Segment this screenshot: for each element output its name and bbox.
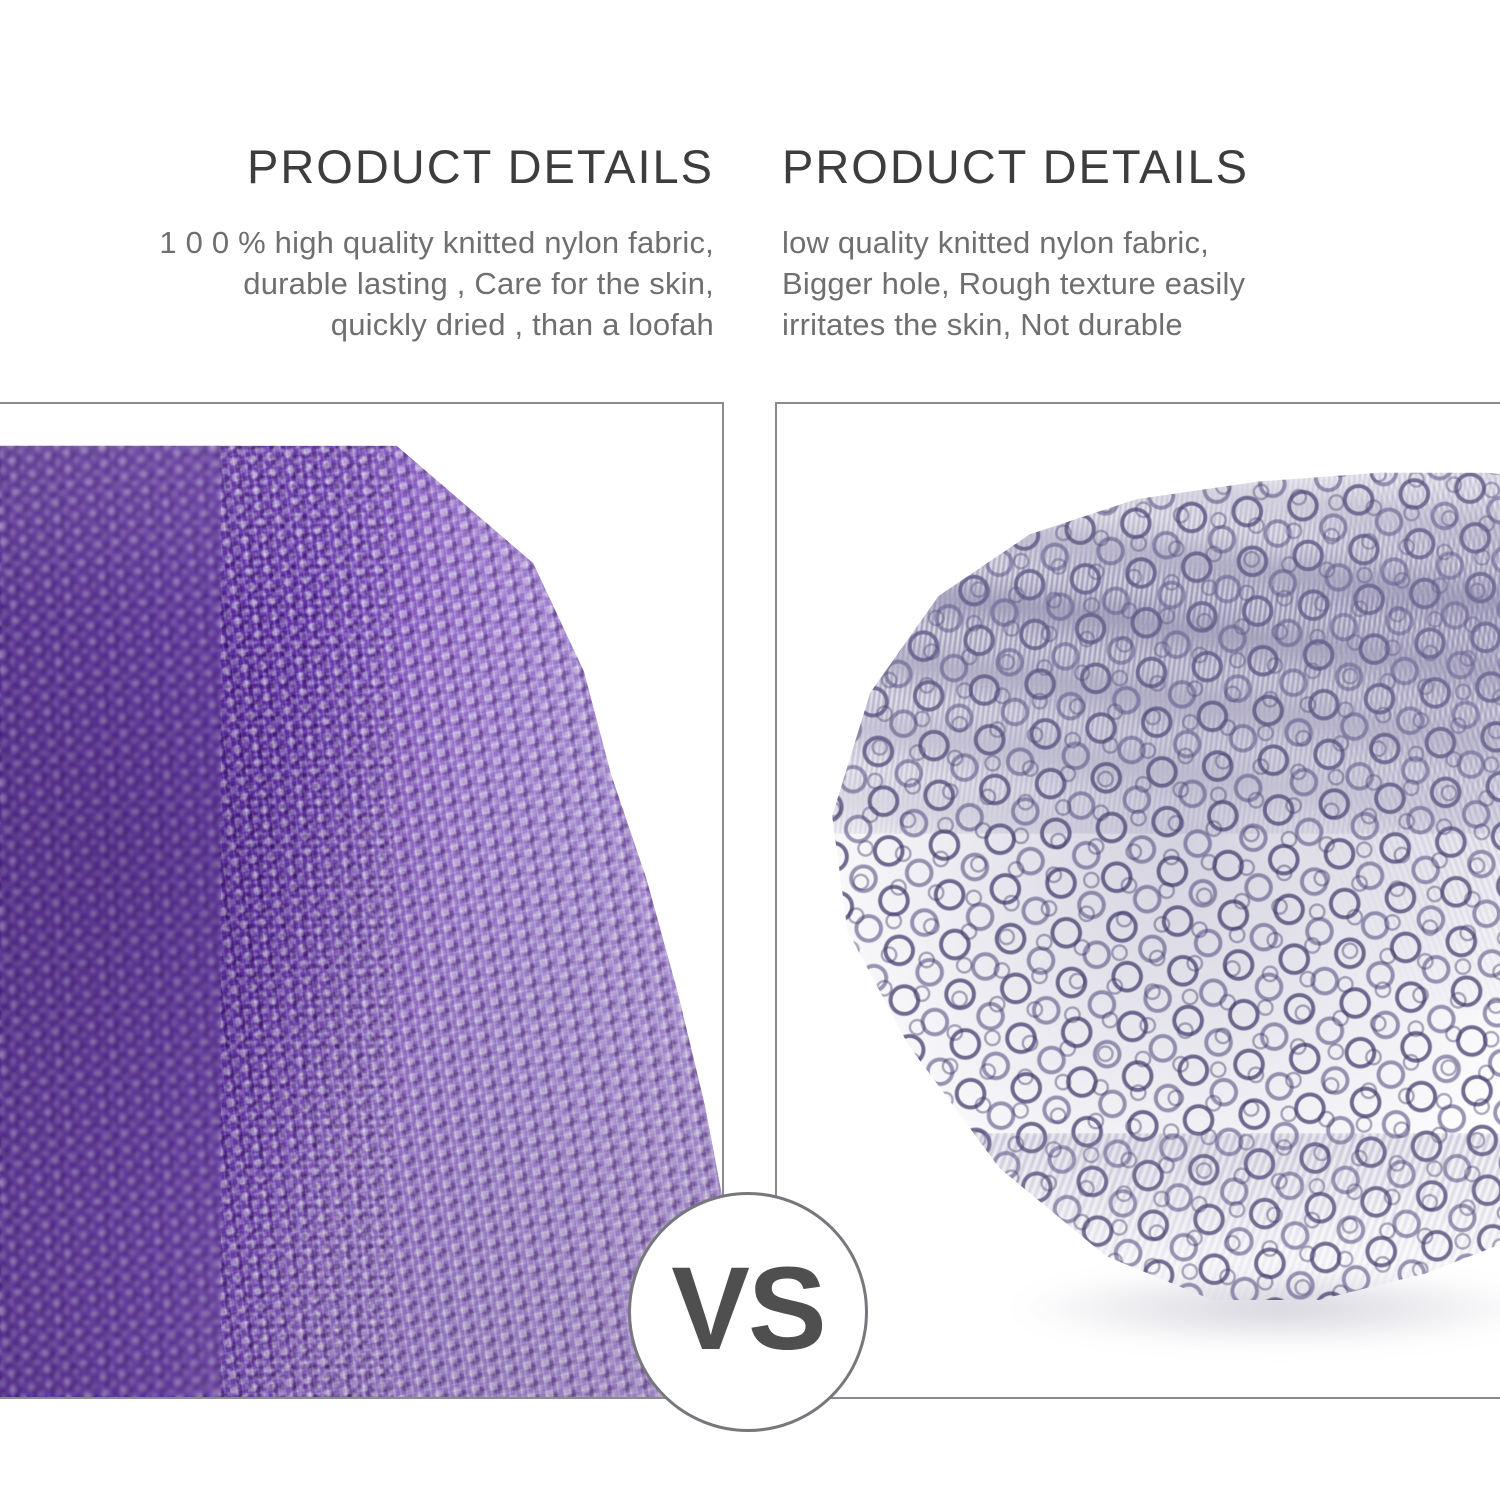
header-row: PRODUCT DETAILS 1 0 0 % high quality kni… <box>0 0 1500 400</box>
left-description-line-1: 1 0 0 % high quality knitted nylon fabri… <box>74 222 714 263</box>
right-text-column: PRODUCT DETAILS low quality knitted nylo… <box>760 0 1500 400</box>
right-description-line-2: Bigger hole, Rough texture easily <box>782 263 1482 304</box>
right-description-line-1: low quality knitted nylon fabric, <box>782 222 1482 263</box>
fabric-defocus-blur <box>0 440 221 1399</box>
left-product-photo-panel <box>0 402 724 1399</box>
right-description-line-3: irritates the skin, Not durable <box>782 304 1482 345</box>
mesh-fuzzy-right-edge <box>1227 464 1500 1010</box>
product-comparison-page: PRODUCT DETAILS 1 0 0 % high quality kni… <box>0 0 1500 1500</box>
versus-badge: VS <box>628 1192 868 1432</box>
open-mesh-fabric-image <box>817 464 1500 1344</box>
right-description: low quality knitted nylon fabric, Bigger… <box>782 222 1482 345</box>
dense-knit-fabric-image <box>0 440 724 1399</box>
right-page-title: PRODUCT DETAILS <box>782 143 1249 190</box>
left-page-title: PRODUCT DETAILS <box>247 143 714 190</box>
right-product-photo-panel <box>775 402 1500 1399</box>
left-description-line-3: quickly dried , than a loofah <box>74 304 714 345</box>
versus-badge-label: VS <box>671 1250 824 1368</box>
left-description: 1 0 0 % high quality knitted nylon fabri… <box>74 222 714 345</box>
left-text-column: PRODUCT DETAILS 1 0 0 % high quality kni… <box>0 0 730 400</box>
comparison-panels: VS <box>0 400 1500 1500</box>
left-description-line-2: durable lasting , Care for the skin, <box>74 263 714 304</box>
